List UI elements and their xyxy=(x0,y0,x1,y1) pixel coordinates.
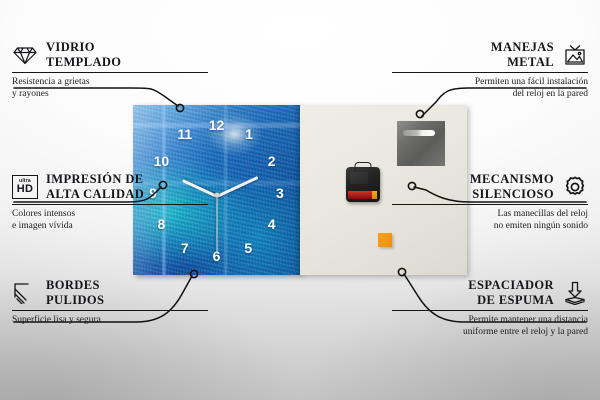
callout-title: BORDES PULIDOS xyxy=(46,278,104,308)
callout-header: MECANISMO SILENCIOSO xyxy=(392,172,588,204)
callout-description: Colores intensos e imagen vívida xyxy=(12,208,208,232)
callout-header: MANEJAS METAL xyxy=(392,40,588,72)
callout-header: BORDES PULIDOS xyxy=(12,278,208,310)
battery-terminal xyxy=(372,191,377,199)
clock-second-hand xyxy=(216,196,217,254)
quartz-mechanism xyxy=(346,167,380,202)
callout-title: VIDRIO TEMPLADO xyxy=(46,40,121,70)
callout-vidrio-templado: VIDRIO TEMPLADO Resistencia a grietas y … xyxy=(12,40,208,100)
callout-header: ESPACIADOR DE ESPUMA xyxy=(392,278,588,310)
callout-divider xyxy=(12,310,208,311)
callout-description: Superficie lisa y segura xyxy=(12,314,208,326)
clock-numeral-4: 4 xyxy=(268,217,276,231)
callout-mecanismo-silencioso: MECANISMO SILENCIOSO Las manecillas del … xyxy=(392,172,588,232)
mechanism-body-detail xyxy=(350,172,368,184)
clock-numeral-5: 5 xyxy=(244,241,252,255)
hanger-slot xyxy=(403,130,436,136)
foam-spacer xyxy=(378,233,392,247)
clock-numeral-3: 3 xyxy=(276,186,284,200)
diamond-icon xyxy=(12,42,38,68)
callout-impresion-alta-calidad: ultra HD IMPRESIÓN DE ALTA CALIDAD Color… xyxy=(12,172,208,232)
polished-edges-icon xyxy=(12,280,38,306)
callout-divider xyxy=(12,204,208,205)
mechanism-hanger-tab xyxy=(355,162,372,170)
callout-description: Permite mantener una distancia uniforme … xyxy=(392,314,588,338)
callout-bordes-pulidos: BORDES PULIDOS Superficie lisa y segura xyxy=(12,278,208,326)
callout-description: Resistencia a grietas y rayones xyxy=(12,76,208,100)
callout-title: MANEJAS METAL xyxy=(491,40,554,70)
callout-divider xyxy=(392,72,588,73)
clock-numeral-7: 7 xyxy=(181,241,189,255)
callout-description: Las manecillas del reloj no emiten ningú… xyxy=(392,208,588,232)
gear-icon xyxy=(562,174,588,200)
ultra-hd-icon-big-text: HD xyxy=(17,184,34,195)
infographic-canvas: 12 1 2 3 4 5 6 7 8 9 10 11 xyxy=(0,0,600,400)
battery xyxy=(348,191,377,199)
metal-hanger-plate xyxy=(397,121,445,166)
clock-numeral-2: 2 xyxy=(268,154,276,168)
callout-header: VIDRIO TEMPLADO xyxy=(12,40,208,72)
callout-description: Permiten una fácil instalación del reloj… xyxy=(392,76,588,100)
callout-espaciador-espuma: ESPACIADOR DE ESPUMA Permite mantener un… xyxy=(392,278,588,338)
callout-divider xyxy=(392,310,588,311)
arrow-down-pad-icon xyxy=(562,280,588,306)
callout-manejas-metal: MANEJAS METAL Permiten una fácil instala… xyxy=(392,40,588,100)
callout-title: ESPACIADOR DE ESPUMA xyxy=(468,278,554,308)
callout-title: IMPRESIÓN DE ALTA CALIDAD xyxy=(46,172,144,202)
clock-numeral-11: 11 xyxy=(177,127,192,141)
clock-numeral-12: 12 xyxy=(209,118,225,132)
picture-frame-hanger-icon xyxy=(562,42,588,68)
clock-center-cap xyxy=(214,193,219,198)
callout-divider xyxy=(392,204,588,205)
ultra-hd-icon: ultra HD xyxy=(12,174,38,200)
callout-header: ultra HD IMPRESIÓN DE ALTA CALIDAD xyxy=(12,172,208,204)
clock-numeral-1: 1 xyxy=(245,127,253,141)
callout-title: MECANISMO SILENCIOSO xyxy=(470,172,554,202)
callout-divider xyxy=(12,72,208,73)
clock-numeral-10: 10 xyxy=(154,154,170,168)
